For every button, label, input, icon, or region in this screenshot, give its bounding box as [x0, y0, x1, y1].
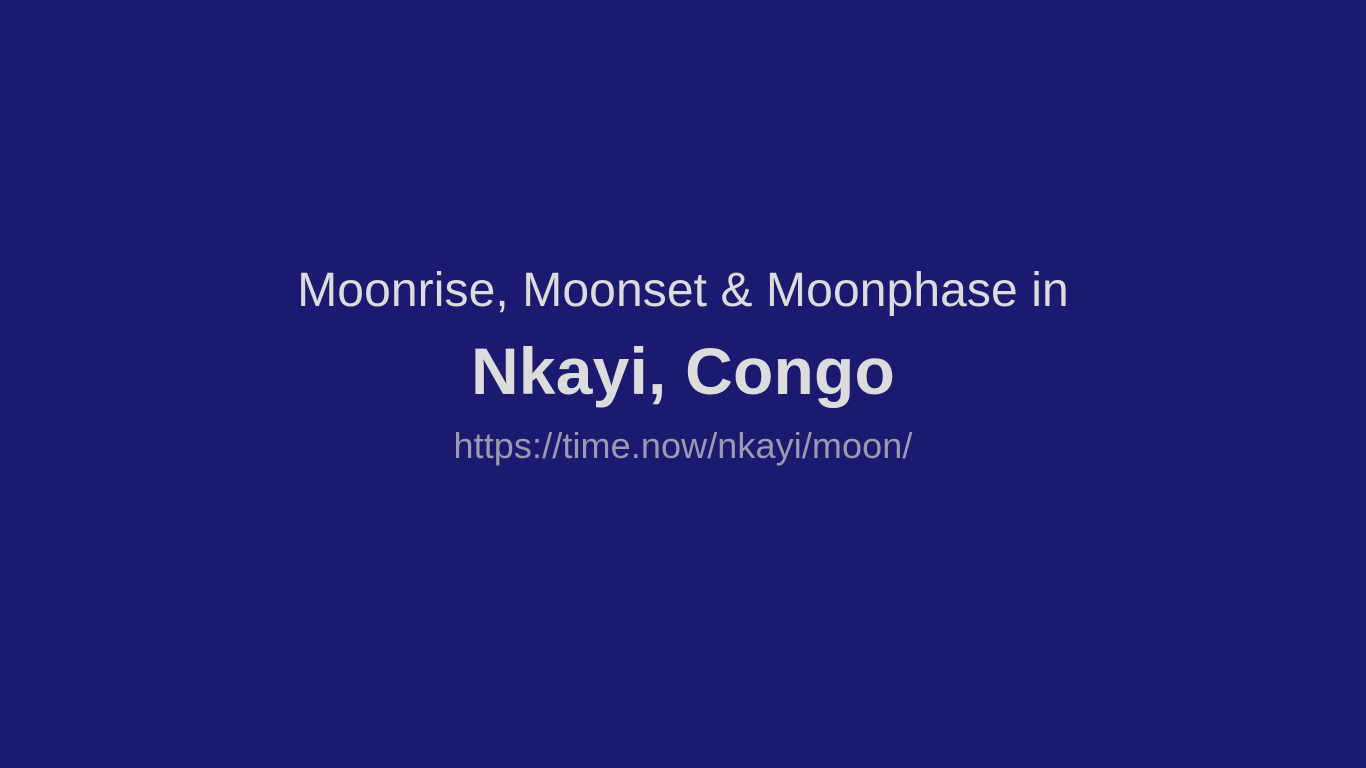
page-title: Moonrise, Moonset & Moonphase in — [297, 262, 1069, 320]
headline-block: Moonrise, Moonset & Moonphase in Nkayi, … — [0, 262, 1366, 468]
page-url: https://time.now/nkayi/moon/ — [453, 424, 912, 468]
location-title: Nkayi, Congo — [471, 332, 895, 410]
title-card: Moonrise, Moonset & Moonphase in Nkayi, … — [0, 0, 1366, 768]
